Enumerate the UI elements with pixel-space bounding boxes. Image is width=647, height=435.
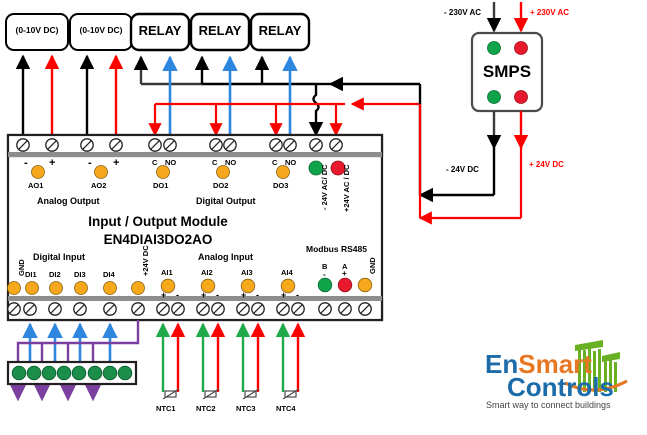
ntc-sensor-symbols: [163, 389, 299, 399]
relay-no-blue-wires: [170, 57, 290, 135]
connector-pin[interactable]: [118, 366, 132, 380]
modbus-gnd-indicator: [358, 278, 372, 292]
do1-no-symbol: NO: [165, 158, 176, 167]
power-neg-label: - 24V AC/ DC: [320, 164, 329, 210]
logo-line2: Controls: [507, 372, 614, 403]
do2-label: DO2: [213, 181, 228, 190]
module-name-line2: EN4DIAI3DO2AO: [8, 232, 308, 247]
supply-24v-label: +24V DC: [141, 245, 150, 276]
smps-ac-neg-terminal: [488, 42, 501, 55]
ac-negative-label: - 230V AC: [444, 8, 481, 17]
power-pos-label: +24V AC / DC: [342, 165, 351, 212]
purple-loop-wires: [18, 320, 138, 398]
ai4-label: AI4: [281, 268, 293, 277]
connector-pin[interactable]: [57, 366, 71, 380]
ntc4-label: NTC4: [276, 404, 296, 413]
ac-positive-label: + 230V AC: [530, 8, 569, 17]
logo-tagline: Smart way to connect buildings: [486, 400, 611, 410]
dc-negative-label: - 24V DC: [446, 165, 479, 174]
modbus-gnd-label: GND: [368, 257, 377, 274]
di4-label: DI4: [103, 270, 115, 279]
do1-c-symbol: C: [152, 158, 157, 167]
relay-common-black-wires: [141, 57, 420, 135]
di1-indicator: [26, 282, 39, 295]
ntc3-label: NTC3: [236, 404, 256, 413]
ai2-label: AI2: [201, 268, 213, 277]
do1-label: DO1: [153, 181, 168, 190]
ao2-plus-symbol: +: [113, 157, 119, 169]
relay-3-label: RELAY: [251, 23, 309, 38]
ai1-minus-symbol: -: [176, 290, 179, 300]
ao2-minus-symbol: -: [88, 157, 92, 169]
connector-pin[interactable]: [72, 366, 86, 380]
module-name-line1: Input / Output Module: [8, 214, 308, 229]
digital-output-group-label: Digital Output: [196, 196, 256, 206]
ai1-label: AI1: [161, 268, 173, 277]
di1-label: DI1: [25, 270, 37, 279]
ai2-minus-symbol: -: [216, 290, 219, 300]
dc-positive-label: + 24V DC: [529, 160, 564, 169]
do3-c-symbol: C: [272, 158, 277, 167]
relay-1-label: RELAY: [131, 23, 189, 38]
analog-output-device-1-label: (0-10V DC): [10, 25, 64, 35]
ai3-label: AI3: [241, 268, 253, 277]
di4-indicator: [104, 282, 117, 295]
ntc-sensor-wires: [163, 324, 298, 392]
analog-output-wires: [23, 56, 116, 135]
ai3-minus-symbol: -: [256, 290, 259, 300]
modbus-a-sign: +: [342, 269, 347, 278]
do2-c-symbol: C: [212, 158, 217, 167]
digital-input-group-label: Digital Input: [33, 252, 85, 262]
analog-output-group-label: Analog Output: [37, 196, 100, 206]
do3-no-symbol: NO: [285, 158, 296, 167]
do3-label: DO3: [273, 181, 288, 190]
ao2-label: AO2: [91, 181, 106, 190]
modbus-b-sign: -: [323, 270, 326, 279]
di3-indicator: [75, 282, 88, 295]
ntc1-label: NTC1: [156, 404, 176, 413]
modbus-group-label: Modbus RS485: [306, 244, 367, 254]
ao1-plus-symbol: +: [49, 157, 55, 169]
ai4-plus-symbol: +: [281, 290, 286, 300]
di3-label: DI3: [74, 270, 86, 279]
modbus-a-indicator: [338, 278, 352, 292]
connector-pin[interactable]: [27, 366, 41, 380]
smps-label: SMPS: [472, 62, 542, 82]
supply24-indicator: [132, 282, 145, 295]
gnd-indicator: [8, 282, 21, 295]
di2-label: DI2: [49, 270, 61, 279]
connector-pin[interactable]: [103, 366, 117, 380]
ao1-label: AO1: [28, 181, 43, 190]
connector-pin[interactable]: [12, 366, 26, 380]
positive-24v-distribution-wires: [155, 104, 420, 135]
diagram-canvas: (0-10V DC) (0-10V DC) RELAY RELAY RELAY …: [0, 0, 647, 435]
do2-indicator: [217, 166, 230, 179]
smps-dc-neg-terminal: [488, 91, 501, 104]
ntc-symbol: [203, 389, 219, 399]
do2-no-symbol: NO: [225, 158, 236, 167]
ntc2-label: NTC2: [196, 404, 216, 413]
smps-ac-pos-terminal: [515, 42, 528, 55]
relay-2-label: RELAY: [191, 23, 249, 38]
modbus-b-indicator: [318, 278, 332, 292]
do1-indicator: [157, 166, 170, 179]
field-connector-block[interactable]: [8, 362, 136, 384]
ntc-symbol: [163, 389, 179, 399]
analog-input-group-label: Analog Input: [198, 252, 253, 262]
ao1-minus-symbol: -: [24, 157, 28, 169]
di2-indicator: [50, 282, 63, 295]
ao1-indicator: [32, 166, 45, 179]
ntc-symbol: [283, 389, 299, 399]
ai1-plus-symbol: +: [161, 290, 166, 300]
ai4-minus-symbol: -: [296, 290, 299, 300]
connector-pin[interactable]: [88, 366, 102, 380]
ai3-plus-symbol: +: [241, 290, 246, 300]
ntc-symbol: [243, 389, 259, 399]
connector-pin[interactable]: [42, 366, 56, 380]
smps-dc-pos-terminal: [515, 91, 528, 104]
ai2-plus-symbol: +: [201, 290, 206, 300]
do3-indicator: [277, 166, 290, 179]
ao2-indicator: [95, 166, 108, 179]
analog-output-device-2-label: (0-10V DC): [74, 25, 128, 35]
